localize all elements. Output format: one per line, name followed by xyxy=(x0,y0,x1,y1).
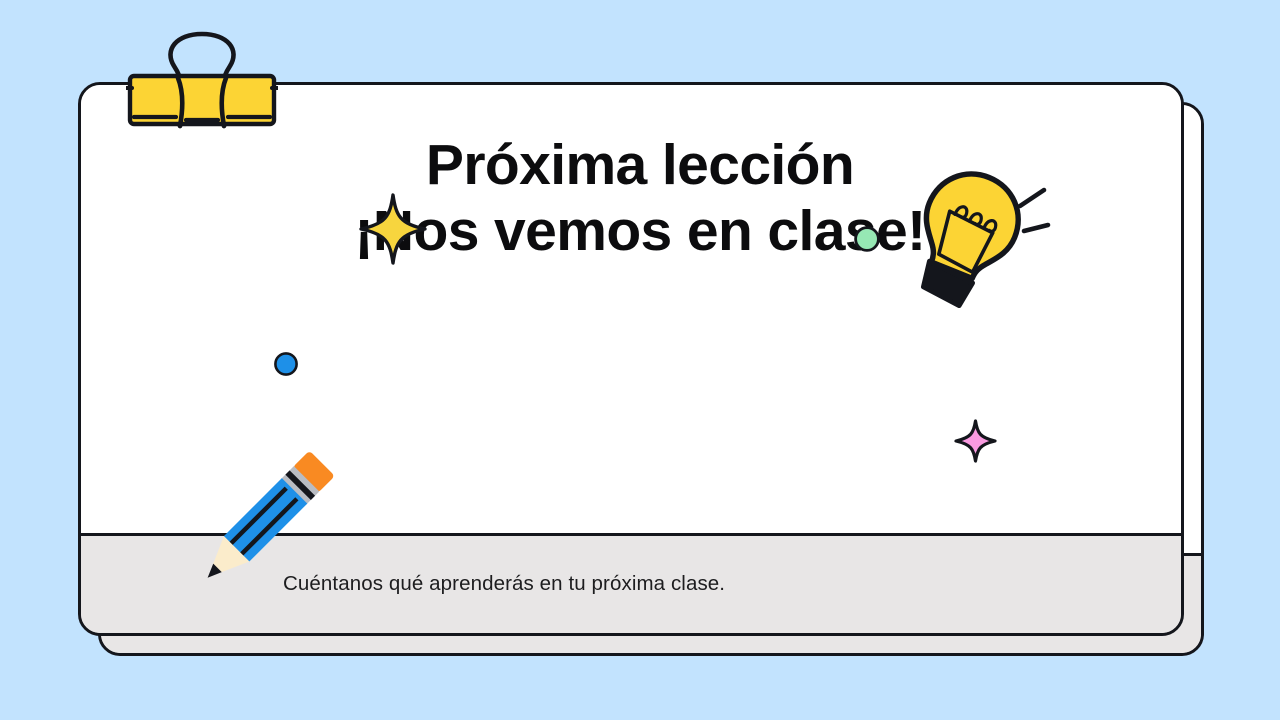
pencil-icon xyxy=(192,436,342,598)
lightbulb-icon xyxy=(898,163,1058,315)
dot-green-icon xyxy=(853,225,881,253)
dot-blue-icon xyxy=(273,351,299,377)
sparkle-yellow-icon xyxy=(358,192,428,266)
sparkle-pink-icon xyxy=(953,418,998,464)
binder-clip-icon xyxy=(126,4,278,132)
footer-caption: Cuéntanos qué aprenderás en tu próxima c… xyxy=(81,572,725,597)
slide-canvas: Cuéntanos qué aprenderás en tu próxima c… xyxy=(0,0,1280,720)
